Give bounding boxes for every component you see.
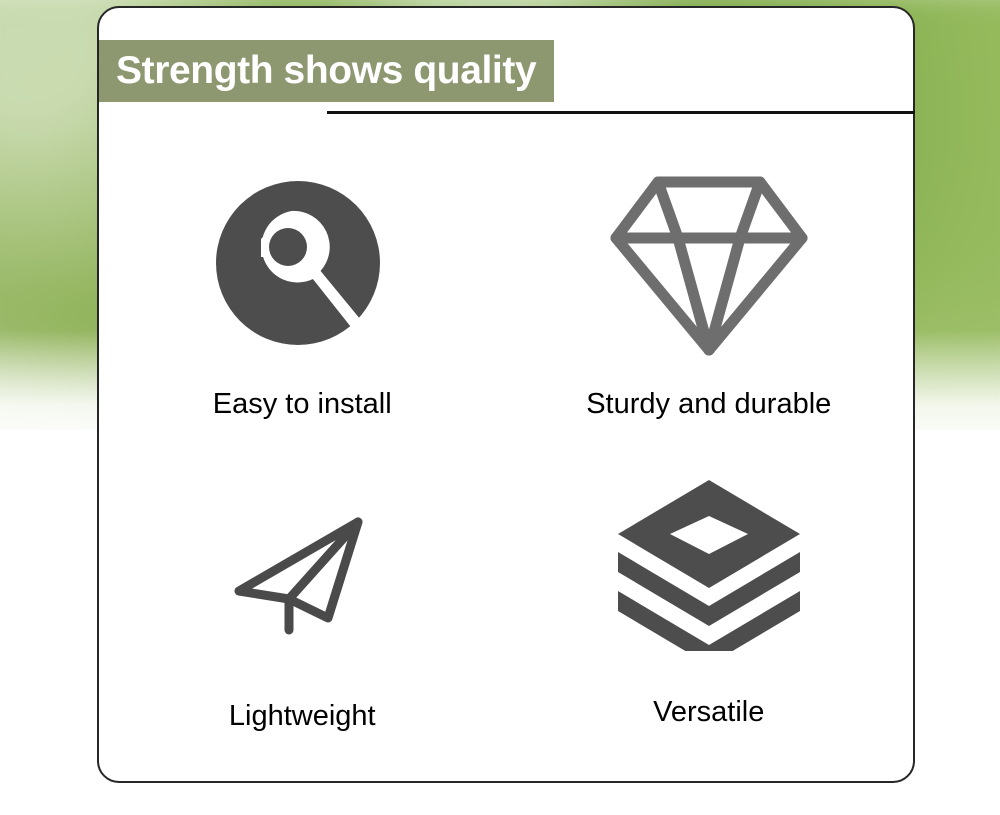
layers-stack-icon-wrapper	[614, 478, 804, 648]
feature-card: Strength shows quality	[97, 6, 915, 783]
feature-item-lightweight[interactable]: Lightweight	[99, 458, 506, 758]
page-title: Strength shows quality	[99, 49, 536, 93]
feature-label-sturdy-and-durable: Sturdy and durable	[586, 388, 831, 421]
paper-plane-icon-wrapper	[227, 488, 377, 658]
feature-label-versatile: Versatile	[653, 696, 764, 729]
feature-label-easy-to-install: Easy to install	[213, 388, 392, 421]
diamond-icon-wrapper	[604, 166, 814, 366]
wrench-circle-icon	[212, 171, 392, 361]
feature-item-sturdy-and-durable[interactable]: Sturdy and durable	[506, 158, 913, 458]
layers-stack-icon	[614, 476, 804, 651]
title-banner: Strength shows quality	[99, 40, 554, 102]
feature-item-easy-to-install[interactable]: Easy to install	[99, 158, 506, 458]
feature-grid: Easy to install	[99, 158, 912, 758]
title-divider-rule	[327, 111, 915, 114]
paper-plane-icon	[227, 508, 377, 638]
feature-label-lightweight: Lightweight	[229, 700, 376, 733]
diamond-icon	[604, 166, 814, 366]
wrench-circle-icon-wrapper	[212, 166, 392, 366]
feature-item-versatile[interactable]: Versatile	[506, 458, 913, 758]
